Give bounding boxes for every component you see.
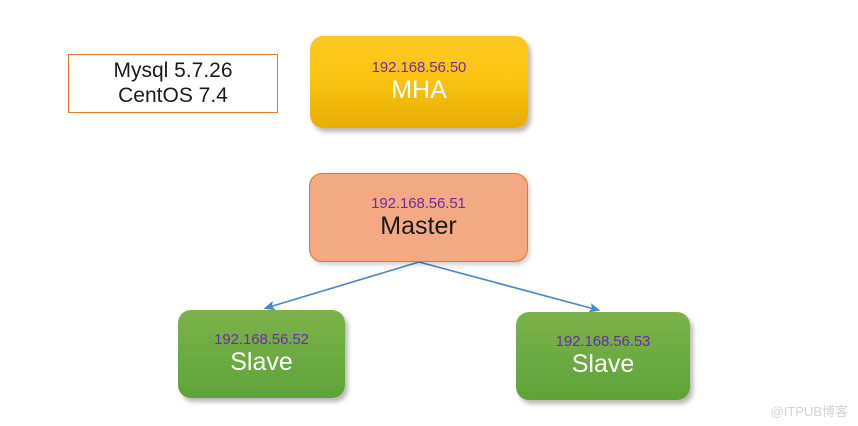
node-slave-1-role: Slave (230, 349, 293, 377)
node-master-ip: 192.168.56.51 (371, 195, 466, 212)
legend-line-os-version: CentOS 7.4 (118, 84, 228, 109)
environment-legend-box: Mysql 5.7.26 CentOS 7.4 (68, 54, 278, 113)
diagram-canvas: Mysql 5.7.26 CentOS 7.4 192.168.56.50 MH… (0, 0, 858, 426)
node-master-role: Master (380, 213, 456, 241)
node-slave-2-ip: 192.168.56.53 (556, 333, 651, 350)
node-slave-2[interactable]: 192.168.56.53 Slave (516, 312, 690, 400)
node-mha[interactable]: 192.168.56.50 MHA (310, 36, 528, 128)
connector-master-to-slave-2 (419, 262, 598, 310)
node-slave-2-role: Slave (572, 351, 635, 379)
connector-master-to-slave-1 (266, 262, 419, 308)
node-slave-1-ip: 192.168.56.52 (214, 331, 309, 348)
node-slave-1[interactable]: 192.168.56.52 Slave (178, 310, 345, 398)
node-mha-ip: 192.168.56.50 (372, 59, 467, 76)
watermark: @ITPUB博客 (771, 401, 848, 420)
node-master[interactable]: 192.168.56.51 Master (309, 173, 528, 262)
legend-line-mysql-version: Mysql 5.7.26 (113, 59, 232, 84)
node-mha-role: MHA (391, 77, 447, 105)
